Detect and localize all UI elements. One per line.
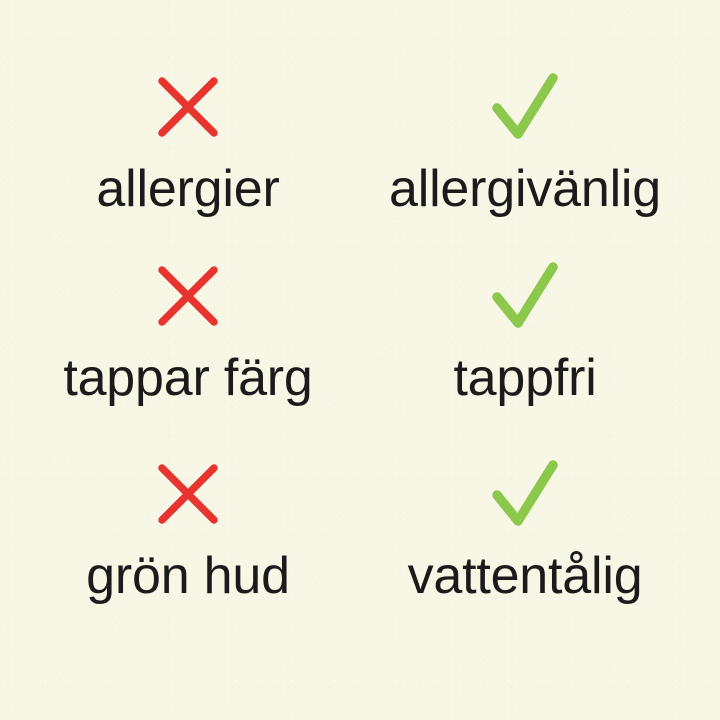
comparison-graphic: allergier allergivänlig tappar fä: [0, 0, 720, 720]
comparison-cell-positive-2: tappfri: [345, 237, 705, 424]
cross-icon: [148, 256, 228, 336]
comparison-label-positive-1: allergivänlig: [389, 163, 661, 215]
comparison-label-positive-3: vattentålig: [408, 550, 643, 602]
comparison-cell-positive-1: allergivänlig: [345, 0, 705, 237]
comparison-label-negative-1: allergier: [96, 163, 279, 215]
comparison-cell-negative-2: tappar färg: [8, 237, 368, 424]
comparison-cell-negative-3: grön hud: [8, 424, 368, 720]
comparison-cell-positive-3: vattentålig: [345, 424, 705, 720]
check-icon: [485, 256, 565, 336]
comparison-label-negative-2: tappar färg: [63, 352, 312, 404]
cross-icon: [148, 454, 228, 534]
comparison-label-positive-2: tappfri: [453, 352, 596, 404]
check-icon: [485, 454, 565, 534]
comparison-cell-negative-1: allergier: [8, 0, 368, 237]
check-icon: [485, 67, 565, 147]
comparison-grid: allergier allergivänlig tappar fä: [0, 0, 720, 720]
comparison-label-negative-3: grön hud: [86, 550, 290, 602]
cross-icon: [148, 67, 228, 147]
